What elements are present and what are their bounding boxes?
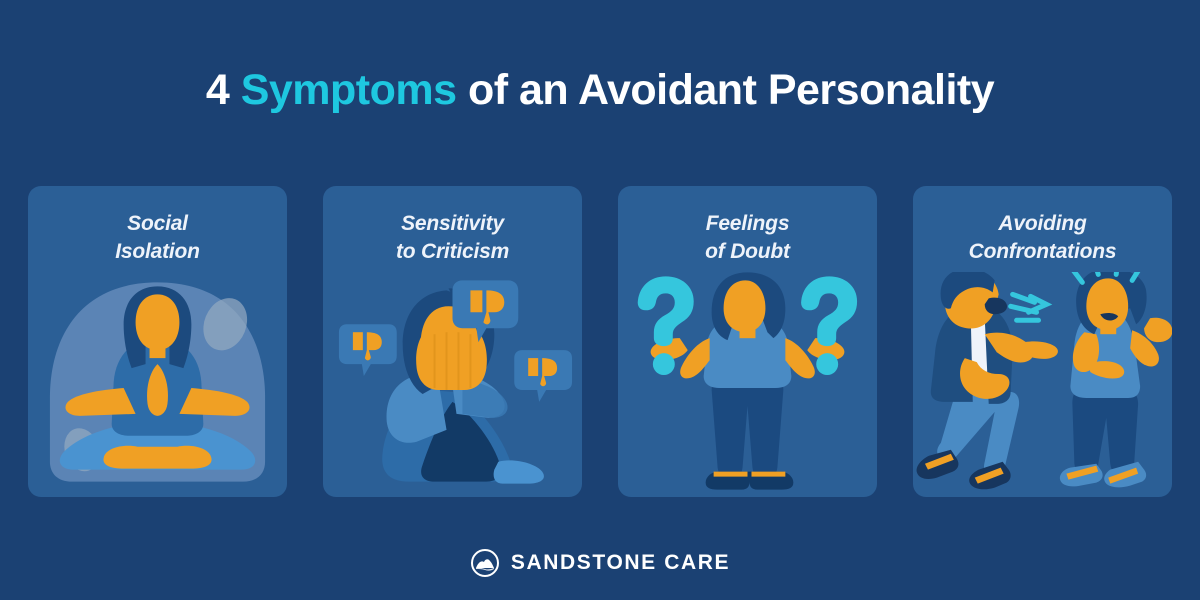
symptom-card-sensitivity-to-criticism[interactable]: Sensitivity to Criticism — [323, 186, 582, 497]
page-title: 4 Symptoms of an Avoidant Personality — [0, 66, 1200, 115]
symptom-card-label: Feelings of Doubt — [618, 210, 877, 266]
sandstone-mountain-logo-icon — [470, 548, 500, 578]
symptom-card-label: Social Isolation — [28, 210, 287, 266]
symptom-card-avoiding-confrontations[interactable]: Avoiding Confrontations — [913, 186, 1172, 497]
illustration-two-people-arguing — [913, 272, 1172, 497]
brand-name: SANDSTONE CARE — [511, 551, 730, 575]
symptom-card-list: Social Isolation — [28, 186, 1172, 497]
footer-branding: SANDSTONE CARE — [0, 548, 1200, 578]
page-title-accent: Symptoms — [241, 66, 457, 114]
shout-burst-icon — [1011, 294, 1047, 320]
thumbs-down-bubble — [339, 324, 397, 376]
symptom-card-feelings-of-doubt[interactable]: Feelings of Doubt — [618, 186, 877, 497]
illustration-person-covering-face-with-thumbs-down-bubbles — [323, 272, 582, 497]
symptom-card-label: Avoiding Confrontations — [913, 210, 1172, 266]
illustration-person-shrugging-with-question-marks — [618, 272, 877, 497]
symptom-card-social-isolation[interactable]: Social Isolation — [28, 186, 287, 497]
thumbs-down-bubble — [514, 350, 572, 402]
page-title-rest: of an Avoidant Personality — [457, 66, 995, 114]
illustration-person-meditating-in-bubble — [28, 272, 287, 497]
page-title-count: 4 — [206, 66, 241, 114]
symptom-card-label: Sensitivity to Criticism — [323, 210, 582, 266]
infographic-page: 4 Symptoms of an Avoidant Personality So… — [0, 0, 1200, 600]
